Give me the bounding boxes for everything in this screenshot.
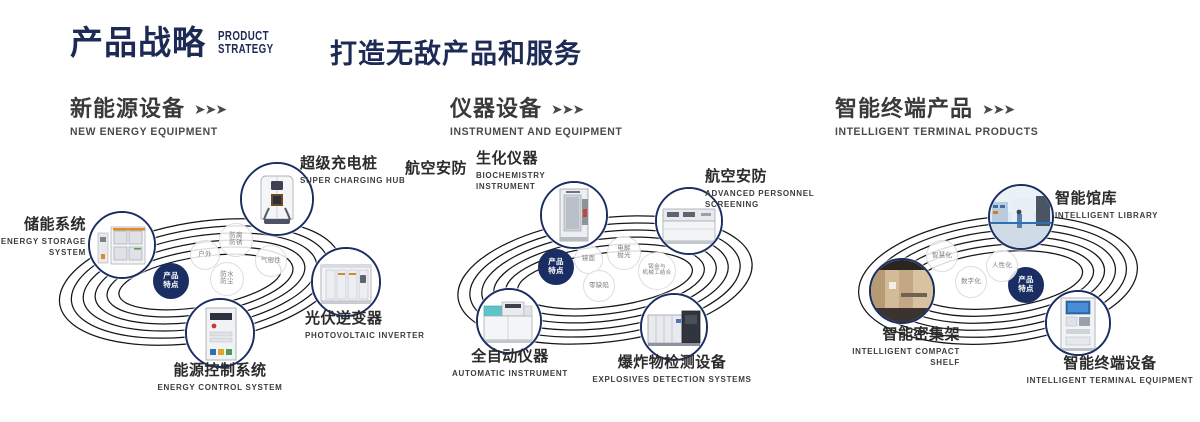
label-intelligent-library: 智能馆库 INTELLIGENT LIBRARY: [1055, 190, 1158, 221]
label-intelligent-terminal-equipment: 智能终端设备 INTELLIGENT TERMINAL EQUIPMENT: [1020, 355, 1200, 386]
label-biochemistry-instrument: 生化仪器 BIOCHEMISTRY INSTRUMENT: [476, 150, 545, 192]
feature-bubble-label-line2: 抛光: [617, 253, 630, 260]
label-energy-control-system: 能源控制系统 ENERGY CONTROL SYSTEM: [105, 362, 335, 393]
self-service-kiosk-icon: [1047, 292, 1109, 354]
section-heading-new-energy: 新能源设备 ➤➤➤ NEW ENERGY EQUIPMENT: [70, 96, 226, 138]
label-cn: 超级充电桩: [300, 155, 406, 173]
feature-bubble-anticorrosion: 防腐 防锈: [219, 223, 253, 257]
feature-bubble-label: 户外: [198, 252, 211, 259]
diagram-intelligent-terminal: 产品 特点 智慧化 数字化 人性化: [800, 150, 1200, 400]
automatic-analyzer-icon: [478, 290, 540, 352]
section-heading-cn: 新能源设备 ➤➤➤: [70, 96, 226, 122]
center-bubble-product-features: 产品 特点: [153, 263, 189, 299]
label-automatic-instrument: 全自动仪器 AUTOMATIC INSTRUMENT: [430, 348, 590, 379]
feature-bubble-digital: 数字化: [955, 266, 987, 298]
feature-bubble-label: 智慧化: [932, 253, 952, 260]
label-cn: 智能终端设备: [1020, 355, 1200, 373]
feature-bubble-humanized: 人性化: [986, 250, 1018, 282]
chevron-right-icon: ➤➤➤: [982, 96, 1014, 122]
label-cn: 智能馆库: [1055, 190, 1158, 208]
node-photovoltaic-inverter[interactable]: [311, 247, 381, 317]
feature-bubble-label: 镜面: [582, 256, 595, 263]
page-title-cn: 产品战略: [70, 26, 206, 59]
feature-bubble-label: 气密性: [261, 258, 281, 265]
section-heading-en: NEW ENERGY EQUIPMENT: [70, 126, 218, 138]
node-intelligent-compact-shelf[interactable]: [869, 258, 935, 324]
energy-storage-cabinet-icon: [90, 213, 154, 277]
feature-bubble-label-line2: 机械工结合: [643, 271, 672, 277]
label-en: BIOCHEMISTRY INSTRUMENT: [476, 170, 545, 192]
label-advanced-personnel-screening: 航空安防 ADVANCED PERSONNEL SCREENING: [705, 168, 814, 210]
compact-shelf-photo-icon: [871, 260, 933, 322]
label-explosives-detection-systems: 爆炸物检测设备 EXPLOSIVES DETECTION SYSTEMS: [575, 354, 769, 385]
poster-canvas: 产品战略 PRODUCT STRATEGY 打造无敌产品和服务 新能源设备 ➤➤…: [0, 0, 1200, 422]
biochemistry-scanner-icon: [542, 183, 606, 247]
page-subtitle: 打造无敌产品和服务: [330, 32, 582, 71]
page-title-en: PRODUCT STRATEGY: [218, 30, 273, 56]
label-en: ENERGY STORAGE SYSTEM: [0, 236, 86, 258]
section-heading-cn-text: 智能终端产品: [835, 96, 973, 122]
feature-bubble-sheetmetal-machining: 钣金与 机械工结合: [638, 252, 676, 290]
node-intelligent-library[interactable]: [988, 184, 1054, 250]
center-bubble-line2: 特点: [548, 267, 563, 276]
section-heading-cn: 仪器设备 ➤➤➤: [450, 96, 631, 122]
node-intelligent-terminal-equipment[interactable]: [1045, 290, 1111, 356]
feature-bubble-label: 人性化: [992, 263, 1012, 270]
chevron-right-icon: ➤➤➤: [194, 96, 226, 122]
feature-bubble-label: 数字化: [961, 279, 981, 286]
node-automatic-instrument[interactable]: [476, 288, 542, 354]
label-super-charging-hub: 超级充电桩 SUPER CHARGING HUB: [300, 155, 406, 186]
chevron-right-icon: ➤➤➤: [551, 96, 583, 122]
label-cn: 生化仪器: [476, 150, 545, 168]
center-bubble-product-features: 产品 特点: [538, 249, 574, 285]
label-en: INTELLIGENT TERMINAL EQUIPMENT: [1020, 375, 1200, 386]
label-cn: 能源控制系统: [105, 362, 335, 380]
explosives-detector-icon: [642, 295, 706, 359]
section-heading-cn-text: 新能源设备: [70, 96, 185, 122]
label-cn: 储能系统: [0, 216, 86, 234]
feature-bubble-label-line2: 防尘: [220, 279, 233, 286]
section-heading-cn-text: 仪器设备: [450, 96, 542, 122]
feature-bubble-label: 零缺陷: [589, 283, 609, 290]
diagram-new-energy: 产品 特点 户外 防腐 防锈 气密性 防水 防尘: [0, 150, 420, 400]
feature-bubble-intelligent: 智慧化: [926, 240, 958, 272]
feature-bubble-electropolishing: 电解 抛光: [607, 236, 641, 270]
label-en: INTELLIGENT COMPACT SHELF: [800, 346, 960, 368]
section-heading-en: INSTRUMENT AND EQUIPMENT: [450, 126, 622, 138]
page-title-en-line2: STRATEGY: [218, 43, 273, 56]
label-cn: 航空安防: [705, 168, 814, 186]
feature-bubble-label-line2: 防锈: [229, 240, 242, 247]
label-en: ADVANCED PERSONNEL SCREENING: [705, 188, 814, 210]
section-heading-instrument: 仪器设备 ➤➤➤ INSTRUMENT AND EQUIPMENT: [450, 96, 631, 138]
node-energy-control-system[interactable]: [185, 298, 255, 368]
label-aviation-security-left: 航空安防: [405, 160, 467, 178]
energy-control-cabinet-icon: [187, 300, 253, 366]
label-en: SUPER CHARGING HUB: [300, 175, 406, 186]
section-heading-intelligent-terminal: 智能终端产品 ➤➤➤ INTELLIGENT TERMINAL PRODUCTS: [835, 96, 1049, 138]
label-cn: 航空安防: [405, 160, 467, 178]
feature-bubble-zero-defect: 零缺陷: [583, 270, 615, 302]
center-bubble-line2: 特点: [1018, 285, 1033, 294]
node-biochemistry-instrument[interactable]: [540, 181, 608, 249]
feature-bubble-airtightness: 气密性: [255, 245, 287, 277]
page-title: 产品战略 PRODUCT STRATEGY: [70, 26, 289, 59]
feature-bubble-waterproof: 防水 防尘: [210, 262, 244, 296]
section-heading-cn: 智能终端产品 ➤➤➤: [835, 96, 1049, 122]
label-en: ENERGY CONTROL SYSTEM: [105, 382, 335, 393]
center-bubble-line2: 特点: [163, 281, 178, 290]
label-cn: 全自动仪器: [430, 348, 590, 366]
label-en: INTELLIGENT LIBRARY: [1055, 210, 1158, 221]
diagram-instrument: 产品 特点 镜面 电解 抛光 钣金与 机械工结合 零缺陷: [400, 150, 820, 400]
label-energy-storage-system: 储能系统 ENERGY STORAGE SYSTEM: [0, 216, 86, 258]
label-cn: 智能密集架: [800, 326, 960, 344]
label-en: EXPLOSIVES DETECTION SYSTEMS: [575, 374, 769, 385]
label-cn: 爆炸物检测设备: [575, 354, 769, 372]
pv-inverter-cabinet-icon: [313, 249, 379, 315]
label-intelligent-compact-shelf: 智能密集架 INTELLIGENT COMPACT SHELF: [800, 326, 960, 368]
library-interior-photo-icon: [990, 186, 1052, 248]
node-energy-storage-system[interactable]: [88, 211, 156, 279]
node-explosives-detection-systems[interactable]: [640, 293, 708, 361]
section-heading-en: INTELLIGENT TERMINAL PRODUCTS: [835, 126, 1038, 138]
label-en: AUTOMATIC INSTRUMENT: [430, 368, 590, 379]
